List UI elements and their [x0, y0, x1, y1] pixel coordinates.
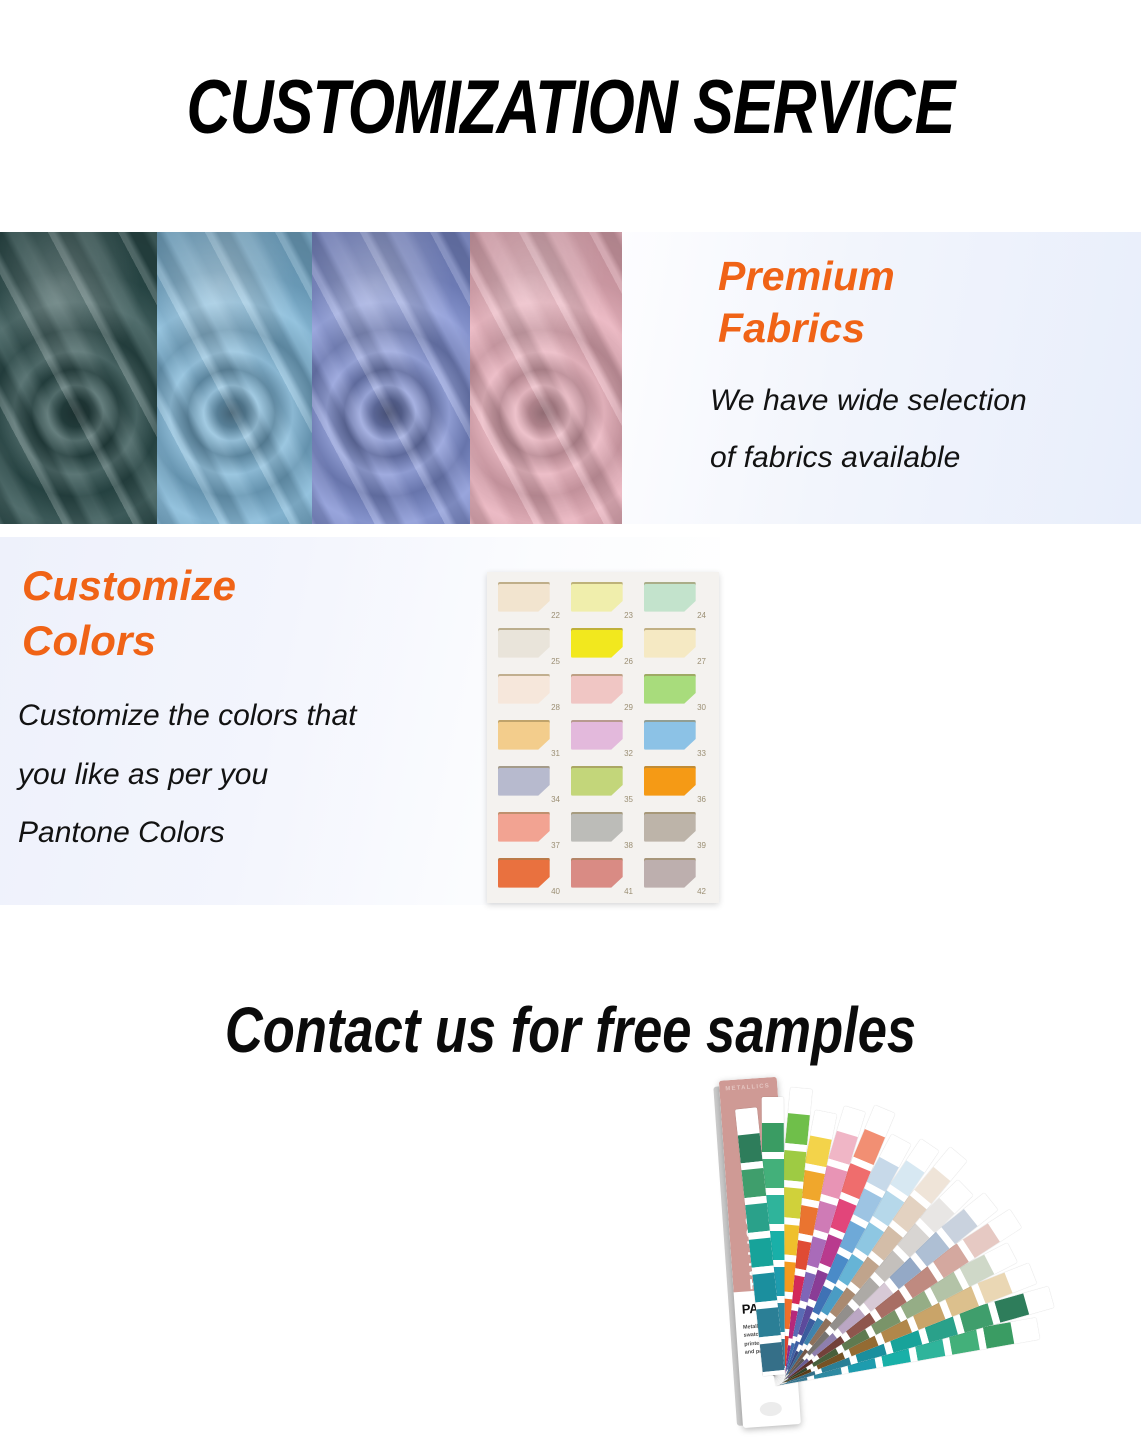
- color-chip-39: [644, 812, 696, 842]
- color-chip-cell: 42: [642, 858, 710, 897]
- pantone-fan-deck: METALLICS METALLICS Solid Coated PANTONE…: [735, 1075, 1135, 1443]
- color-chip-number: 39: [697, 841, 706, 850]
- color-chip-25: [498, 628, 550, 658]
- pantone-cover-small-label: METALLICS: [725, 1083, 770, 1092]
- color-chip-23: [571, 582, 623, 612]
- premium-fabrics-heading-line-1: Premium: [718, 250, 1118, 302]
- customize-colors-section: Customize Colors Customize the colors th…: [0, 537, 1141, 905]
- color-chip-cell: 24: [642, 582, 710, 621]
- color-chip-cell: 39: [642, 812, 710, 851]
- color-chip-cell: 28: [496, 674, 564, 713]
- color-chip-35: [571, 766, 623, 796]
- color-chip-37: [498, 812, 550, 842]
- contact-tagline: Contact us for free samples: [103, 985, 1039, 1075]
- pantone-cover-thumb-notch: [759, 1401, 782, 1417]
- color-chip-cell: 27: [642, 628, 710, 667]
- fabric-swatch-dark-teal-ribbed-fabric: [0, 232, 157, 524]
- color-chip-number: 33: [697, 749, 706, 758]
- color-chip-number: 23: [624, 611, 633, 620]
- color-chip-number: 38: [624, 841, 633, 850]
- page-title: CUSTOMIZATION SERVICE: [114, 62, 1027, 152]
- color-chip-cell: 35: [569, 766, 637, 805]
- color-chip-number: 26: [624, 657, 633, 666]
- color-chip-number: 40: [551, 887, 560, 896]
- color-chip-30: [644, 674, 696, 704]
- color-chip-cell: 37: [496, 812, 564, 851]
- color-chip-41: [571, 858, 623, 888]
- color-chip-33: [644, 720, 696, 750]
- color-chip-cell: 40: [496, 858, 564, 897]
- color-chip-number: 36: [697, 795, 706, 804]
- color-chip-number: 37: [551, 841, 560, 850]
- color-chip-32: [571, 720, 623, 750]
- fabric-swatch-light-blue-fabric: [157, 232, 312, 524]
- premium-fabrics-body-line-1: We have wide selection: [710, 372, 1130, 429]
- color-chip-number: 30: [697, 703, 706, 712]
- color-chip-number: 34: [551, 795, 560, 804]
- fabric-swatch-blush-pink-fabric: [470, 232, 622, 524]
- color-chip-cell: 29: [569, 674, 637, 713]
- customize-colors-body-line-2: you like as per you: [18, 746, 488, 805]
- color-chip-42: [644, 858, 696, 888]
- color-chip-cell: 25: [496, 628, 564, 667]
- fabric-swatch-strip: [0, 232, 622, 524]
- color-chip-number: 28: [551, 703, 560, 712]
- color-chip-cell: 22: [496, 582, 564, 621]
- premium-fabrics-body: We have wide selection of fabrics availa…: [710, 372, 1130, 486]
- color-chip-number: 35: [624, 795, 633, 804]
- premium-fabrics-heading: Premium Fabrics: [718, 250, 1118, 355]
- color-chip-number: 22: [551, 611, 560, 620]
- premium-fabrics-text-panel: Premium Fabrics We have wide selection o…: [622, 232, 1141, 524]
- color-chip-number: 25: [551, 657, 560, 666]
- customize-colors-body-line-3: Pantone Colors: [18, 804, 488, 863]
- color-chip-26: [571, 628, 623, 658]
- customize-colors-heading-line-1: Customize: [22, 559, 442, 614]
- color-chip-cell: 33: [642, 720, 710, 759]
- customize-colors-body-line-1: Customize the colors that: [18, 687, 488, 746]
- color-chip-number: 27: [697, 657, 706, 666]
- color-chip-34: [498, 766, 550, 796]
- color-chip-number: 24: [697, 611, 706, 620]
- color-chip-27: [644, 628, 696, 658]
- fabric-swatch-periwinkle-blue-fabric: [312, 232, 470, 524]
- color-chip-24: [644, 582, 696, 612]
- premium-fabrics-section: Premium Fabrics We have wide selection o…: [0, 232, 1141, 524]
- color-chip-cell: 34: [496, 766, 564, 805]
- customize-colors-heading-line-2: Colors: [22, 614, 442, 669]
- color-chip-36: [644, 766, 696, 796]
- color-chip-38: [571, 812, 623, 842]
- premium-fabrics-heading-line-2: Fabrics: [718, 302, 1118, 354]
- color-chip-cell: 41: [569, 858, 637, 897]
- color-chip-number: 42: [697, 887, 706, 896]
- color-chip-31: [498, 720, 550, 750]
- premium-fabrics-body-line-2: of fabrics available: [710, 429, 1130, 486]
- color-chip-number: 41: [624, 887, 633, 896]
- customize-colors-body: Customize the colors that you like as pe…: [18, 687, 488, 863]
- color-chip-cell: 26: [569, 628, 637, 667]
- color-chip-number: 31: [551, 749, 560, 758]
- color-chip-cell: 23: [569, 582, 637, 621]
- customize-colors-heading: Customize Colors: [22, 559, 442, 668]
- color-chip-number: 29: [624, 703, 633, 712]
- color-chip-cell: 38: [569, 812, 637, 851]
- color-chip-number: 32: [624, 749, 633, 758]
- color-swatch-card: 2223242526272829303132333435363738394041…: [487, 572, 719, 903]
- color-chip-29: [571, 674, 623, 704]
- color-chip-28: [498, 674, 550, 704]
- color-chip-40: [498, 858, 550, 888]
- color-chip-cell: 32: [569, 720, 637, 759]
- color-chip-cell: 36: [642, 766, 710, 805]
- color-chip-cell: 31: [496, 720, 564, 759]
- color-chip-22: [498, 582, 550, 612]
- color-chip-cell: 30: [642, 674, 710, 713]
